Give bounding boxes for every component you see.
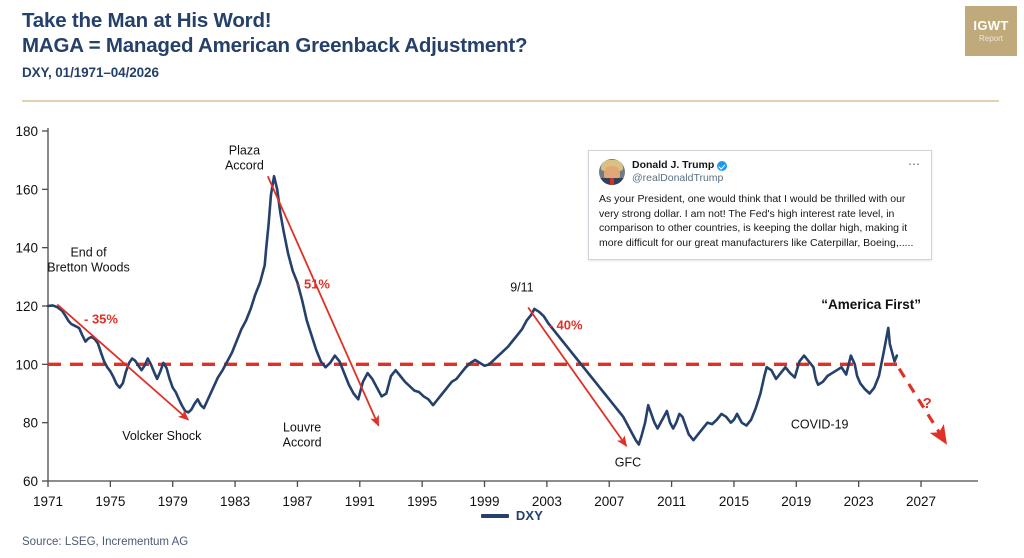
annotation-america-first: “America First”: [821, 297, 921, 312]
x-axis-tick-label: 2011: [657, 494, 686, 509]
annotation-louvre-accord: LouvreAccord: [283, 420, 322, 449]
tweet-handle: @realDonaldTrump: [632, 172, 727, 185]
drawdown-40-label: - 40%: [549, 317, 583, 332]
svg-text:Plaza: Plaza: [229, 143, 260, 157]
svg-text:Bretton Woods: Bretton Woods: [47, 260, 129, 274]
x-axis-tick-label: 2003: [532, 494, 562, 509]
svg-text:Accord: Accord: [283, 435, 322, 449]
annotation-covid-19: COVID-19: [791, 418, 849, 432]
svg-text:COVID-19: COVID-19: [791, 418, 849, 432]
logo-subtitle: Report: [979, 33, 1003, 44]
page-title-line1: Take the Man at His Word!: [22, 8, 922, 33]
y-axis-tick-label: 140: [15, 241, 38, 256]
x-axis-tick-label: 1999: [469, 494, 499, 509]
y-axis-tick-label: 60: [23, 474, 38, 489]
x-axis-tick-label: 2015: [719, 494, 749, 509]
legend-swatch-dxy: [481, 514, 509, 518]
page-title-line2: MAGA = Managed American Greenback Adjust…: [22, 33, 922, 58]
annotation-gfc: GFC: [615, 455, 641, 469]
drawdown-51-arrow: [268, 176, 379, 425]
logo-title: IGWT: [973, 19, 1008, 33]
igwt-report-logo: IGWT Report: [965, 6, 1017, 56]
x-axis-tick-label: 1995: [407, 494, 437, 509]
x-axis-tick-label: 2027: [906, 494, 936, 509]
more-options-icon[interactable]: ⋯: [908, 159, 921, 169]
drawdown-51-label: - 51%: [296, 277, 330, 292]
y-axis-tick-label: 80: [23, 416, 38, 431]
tweet-name-text: Donald J. Trump: [632, 159, 714, 172]
drawdown-35-label: - 35%: [84, 312, 118, 327]
svg-text:Louvre: Louvre: [283, 420, 321, 434]
header-divider: [22, 100, 999, 102]
x-axis-tick-label: 2023: [844, 494, 874, 509]
legend-label-dxy: DXY: [516, 508, 543, 523]
x-axis-tick-label: 1975: [95, 494, 125, 509]
y-axis-tick-label: 100: [15, 357, 38, 372]
svg-text:9/11: 9/11: [510, 280, 533, 294]
x-axis-tick-label: 1991: [345, 494, 375, 509]
svg-text:Volcker Shock: Volcker Shock: [122, 429, 202, 443]
x-axis-tick-label: 2007: [594, 494, 624, 509]
tweet-body-text: As your President, one would think that …: [599, 192, 921, 250]
annotation-volcker-shock: Volcker Shock: [122, 429, 202, 443]
svg-text:?: ?: [923, 395, 932, 412]
x-axis-tick-label: 1983: [220, 494, 250, 509]
annotation-nine-eleven: 9/11: [510, 280, 533, 294]
x-axis-tick-label: 1979: [158, 494, 188, 509]
tweet-display-name: Donald J. Trump: [632, 159, 727, 172]
y-axis-tick-label: 120: [15, 299, 38, 314]
x-axis-tick-label: 1987: [282, 494, 312, 509]
tweet-header: Donald J. Trump @realDonaldTrump ⋯: [599, 159, 921, 185]
header: Take the Man at His Word! MAGA = Managed…: [22, 8, 922, 80]
chart-legend: DXY: [0, 508, 1024, 523]
x-axis-tick-label: 2019: [781, 494, 811, 509]
drawdown-35-arrow: [57, 305, 188, 420]
x-axis-tick-label: 1971: [33, 494, 63, 509]
avatar: [599, 159, 625, 185]
annotation-end-of-bretton-woods: End ofBretton Woods: [47, 245, 129, 274]
tweet-identity: Donald J. Trump @realDonaldTrump: [632, 159, 727, 185]
trump-tweet-card: Donald J. Trump @realDonaldTrump ⋯ As yo…: [588, 150, 932, 260]
svg-text:End of: End of: [70, 245, 107, 259]
source-note: Source: LSEG, Incrementum AG: [22, 536, 188, 548]
y-axis-tick-label: 180: [15, 124, 38, 139]
verified-badge-icon: [717, 161, 727, 171]
y-axis-tick-label: 160: [15, 182, 38, 197]
annotation-plaza-accord: PlazaAccord: [225, 143, 264, 172]
annotation-question-mark: ?: [923, 395, 932, 412]
svg-text:GFC: GFC: [615, 455, 641, 469]
svg-text:“America First”: “America First”: [821, 297, 921, 312]
chart-page: Take the Man at His Word! MAGA = Managed…: [0, 0, 1024, 558]
svg-text:Accord: Accord: [225, 158, 264, 172]
page-subtitle: DXY, 01/1971–04/2026: [22, 65, 922, 80]
